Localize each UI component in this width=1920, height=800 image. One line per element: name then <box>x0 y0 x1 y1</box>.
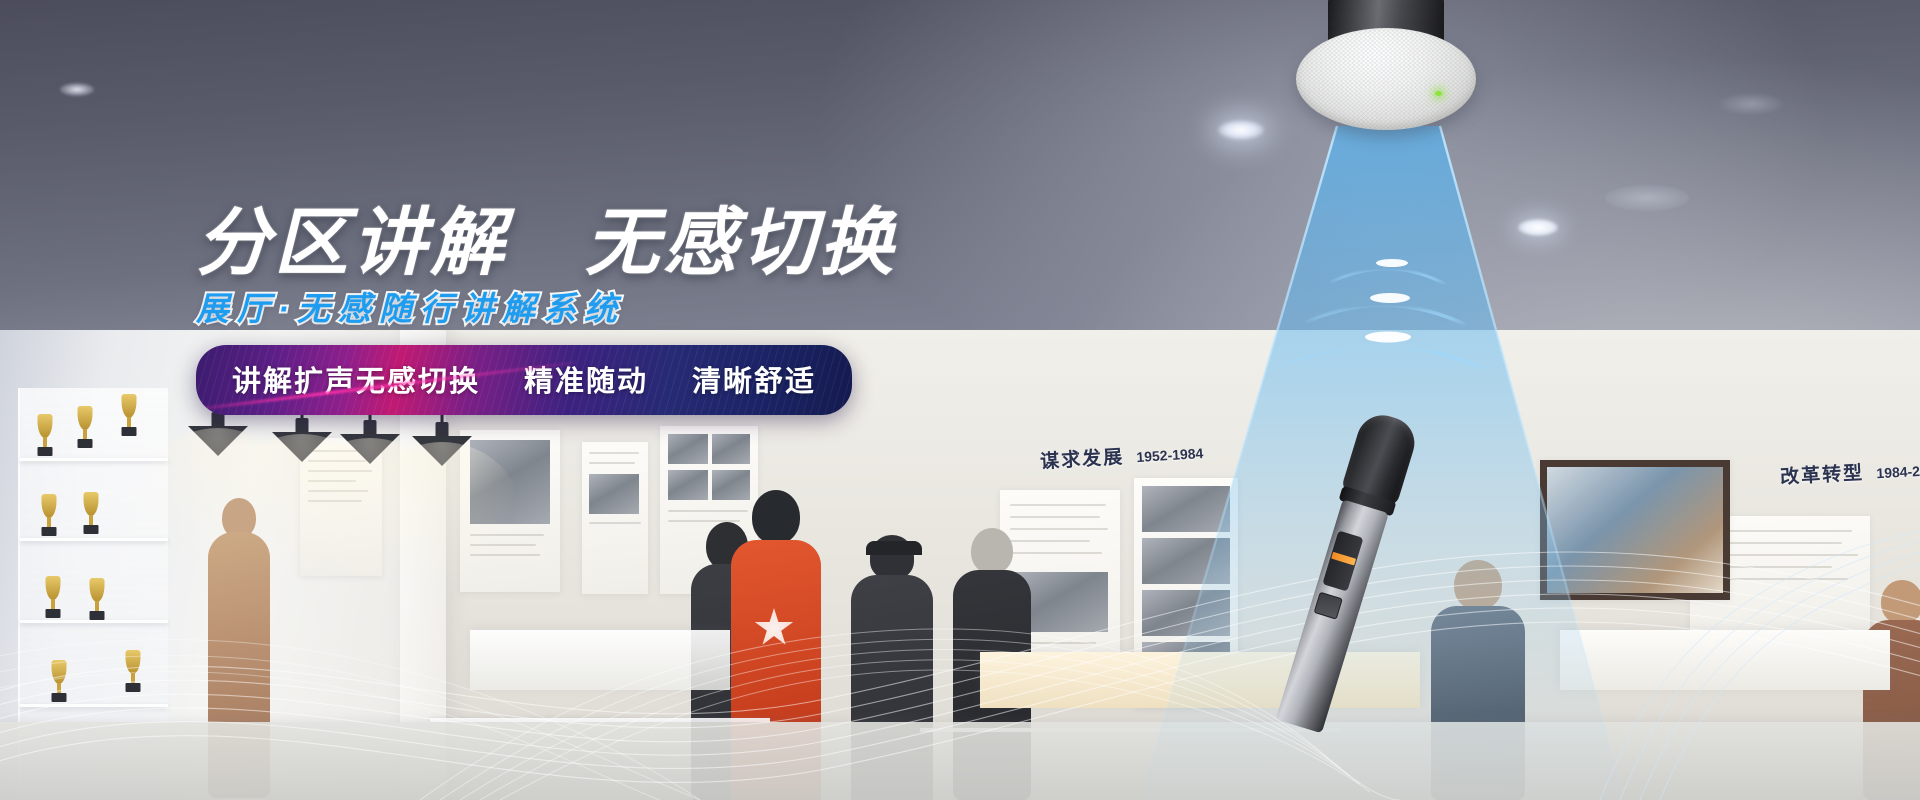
banner-copy: 分区讲解 无感切换 展厅·无感随行讲解系统 讲解扩声无感切换 精准随动 清晰舒适 <box>196 206 956 420</box>
speaker-grille <box>1296 28 1476 130</box>
page-title: 分区讲解 无感切换 <box>196 206 956 280</box>
display-case <box>1560 630 1890 690</box>
ceiling-downlight-icon <box>60 83 94 96</box>
feature-item-2: 精准随动 <box>524 358 648 400</box>
hall-floor <box>0 722 1920 800</box>
ceiling-downlight-icon <box>1605 185 1689 211</box>
feature-item-1: 讲解扩声无感切换 <box>232 358 480 400</box>
banner-stage: 谋求发展 1952-1984 改革转型 1984-2010 <box>0 0 1920 800</box>
display-case <box>470 630 730 690</box>
framed-painting <box>1540 460 1730 600</box>
exhibit-section-years: 1984-2010 <box>1876 462 1920 481</box>
headline-part-1: 分区讲解 <box>196 201 508 284</box>
feature-pill: 讲解扩声无感切换 精准随动 清晰舒适 <box>196 345 852 415</box>
headline-part-2: 无感切换 <box>585 201 897 284</box>
feature-item-3: 清晰舒适 <box>692 358 816 400</box>
exhibit-panel <box>582 442 648 594</box>
page-subtitle: 展厅·无感随行讲解系统 <box>196 292 956 325</box>
speaker-status-led-icon <box>1435 91 1442 96</box>
ceiling-downlight-icon <box>1218 120 1264 140</box>
ceiling-downlight-icon <box>1718 93 1784 115</box>
ceiling-speaker <box>1296 0 1476 152</box>
ceiling-downlight-icon <box>1518 219 1558 236</box>
exhibit-section-years: 1952-1984 <box>1136 445 1204 465</box>
